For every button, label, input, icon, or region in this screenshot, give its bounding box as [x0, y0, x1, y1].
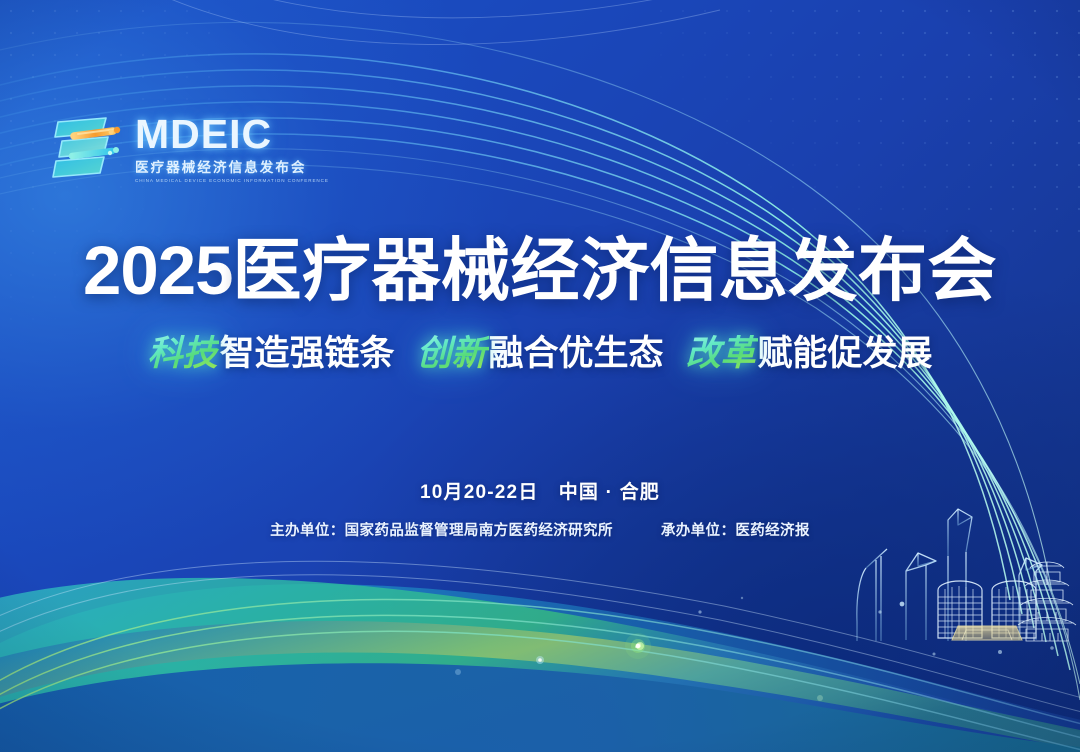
host-organization: 主办单位：国家药品监督管理局南方医药经济研究所 [270, 523, 613, 539]
vignette-overlay [0, 0, 1080, 752]
event-poster: MDEIC 医疗器械经济信息发布会 CHINA MEDICAL DEVICE E… [0, 0, 1080, 752]
organizers: 主办单位：国家药品监督管理局南方医药经济研究所承办单位：医药经济报 [0, 519, 1080, 540]
organizer-organization: 承办单位：医药经济报 [661, 523, 810, 539]
event-date-location: 10月20-22日 中国 · 合肥 [0, 477, 1080, 504]
